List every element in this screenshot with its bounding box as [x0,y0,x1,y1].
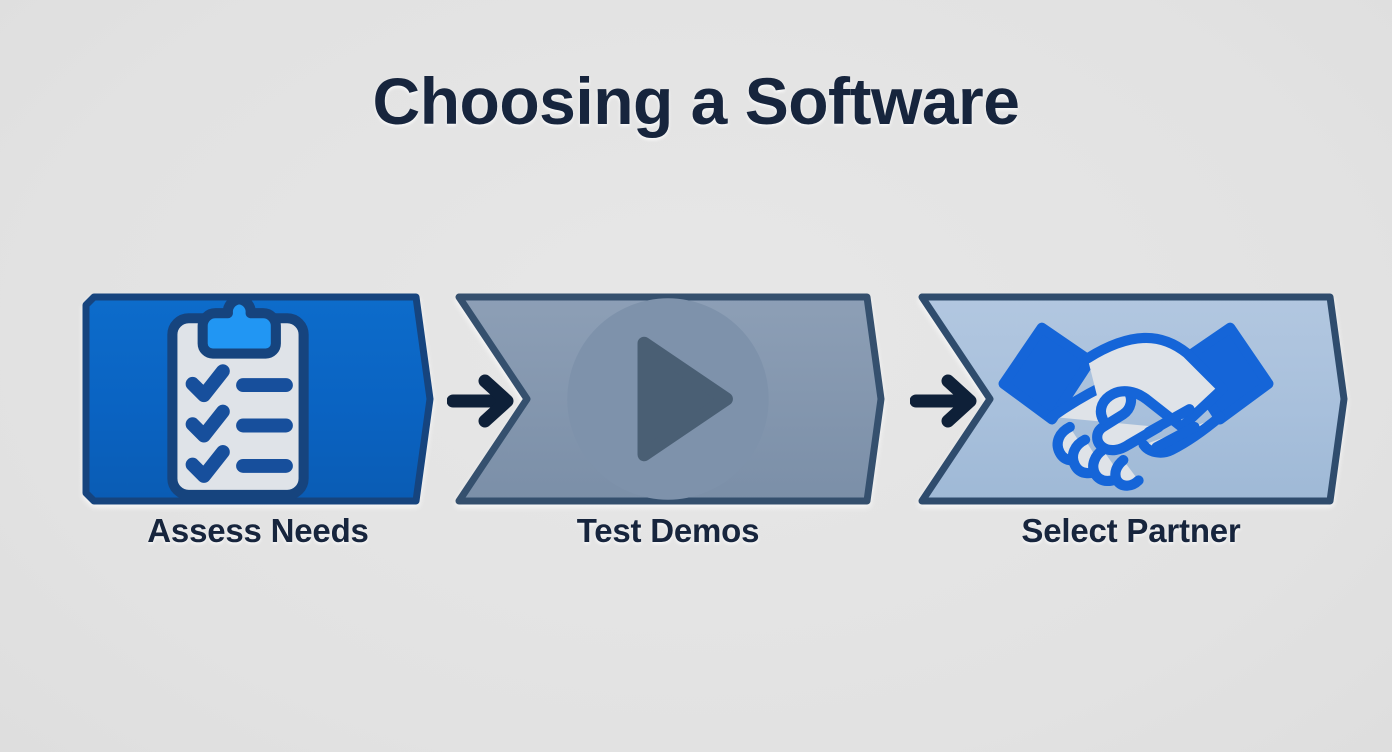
slide-canvas: Choosing a Software [0,0,1392,752]
connector-arrow-2 [910,373,984,429]
flow-step-label-3: Select Partner [916,512,1346,550]
arrow-right-icon [447,373,521,429]
flow-step-label-1: Assess Needs [84,512,432,550]
play-button-icon [533,293,803,505]
flow-step-label-2: Test Demos [453,512,883,550]
flow-step-icon-2 [533,293,803,505]
flow-step-assess-needs[interactable] [84,293,432,505]
connector-arrow-1 [447,373,521,429]
flow-step-icon-3 [996,293,1276,505]
arrow-right-icon [910,373,984,429]
clipboard-checklist-icon [124,293,352,505]
page-title: Choosing a Software [0,68,1392,134]
flow-step-icon-1 [124,293,352,505]
process-flow [0,293,1392,508]
handshake-icon [996,293,1276,505]
